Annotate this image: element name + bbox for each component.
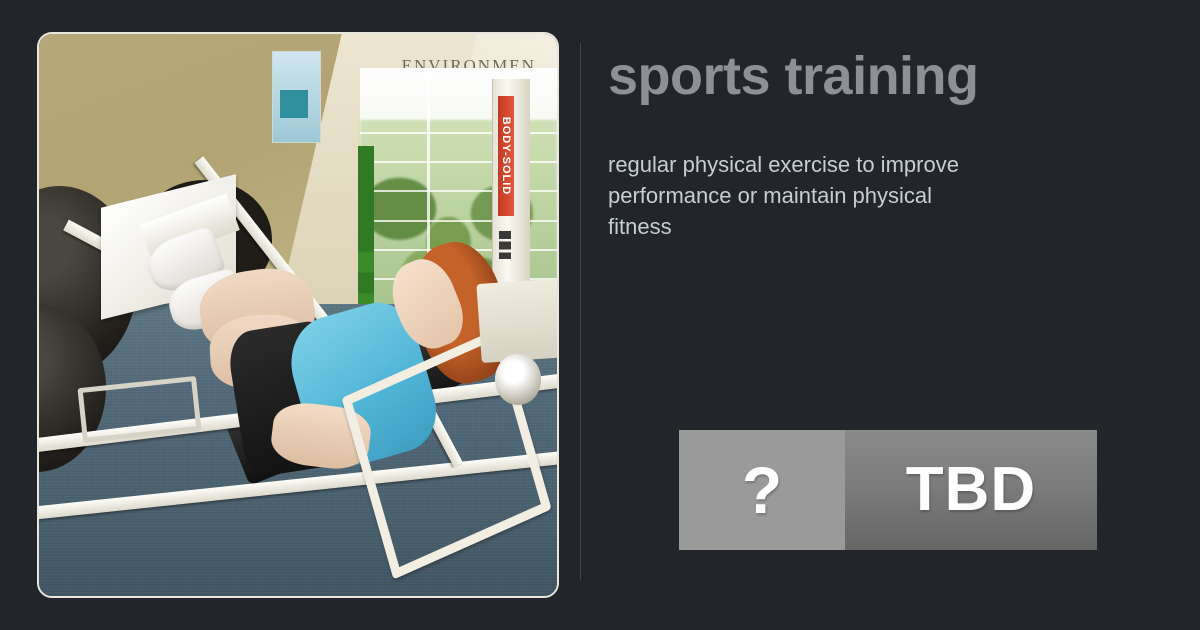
photo-scene: ENVIRONMEN BODY-SOLID [39,34,557,596]
question-mark-panel: ? [679,430,845,550]
equipment-brand-label: BODY-SOLID [498,96,514,216]
tbd-label-panel: TBD [845,430,1097,550]
article-photo[interactable]: ENVIRONMEN BODY-SOLID [37,32,559,598]
wall-poster-chip [280,90,308,118]
page-title: sports training [608,48,1128,105]
machine-side-block [477,278,557,363]
article-description: regular physical exercise to improve per… [608,149,980,242]
machine-roller [495,354,542,405]
article-content: sports training regular physical exercis… [608,48,1128,242]
vertical-divider [580,43,581,580]
photo-frame: ENVIRONMEN BODY-SOLID [37,32,559,598]
equipment-brand-text: BODY-SOLID [500,117,512,195]
preview-card: ENVIRONMEN BODY-SOLID [0,0,1200,630]
question-mark-icon: ? [742,457,782,523]
post-adjustment-slots [499,231,511,259]
tbd-badge[interactable]: ? TBD [679,430,1097,550]
tbd-label: TBD [906,459,1036,521]
